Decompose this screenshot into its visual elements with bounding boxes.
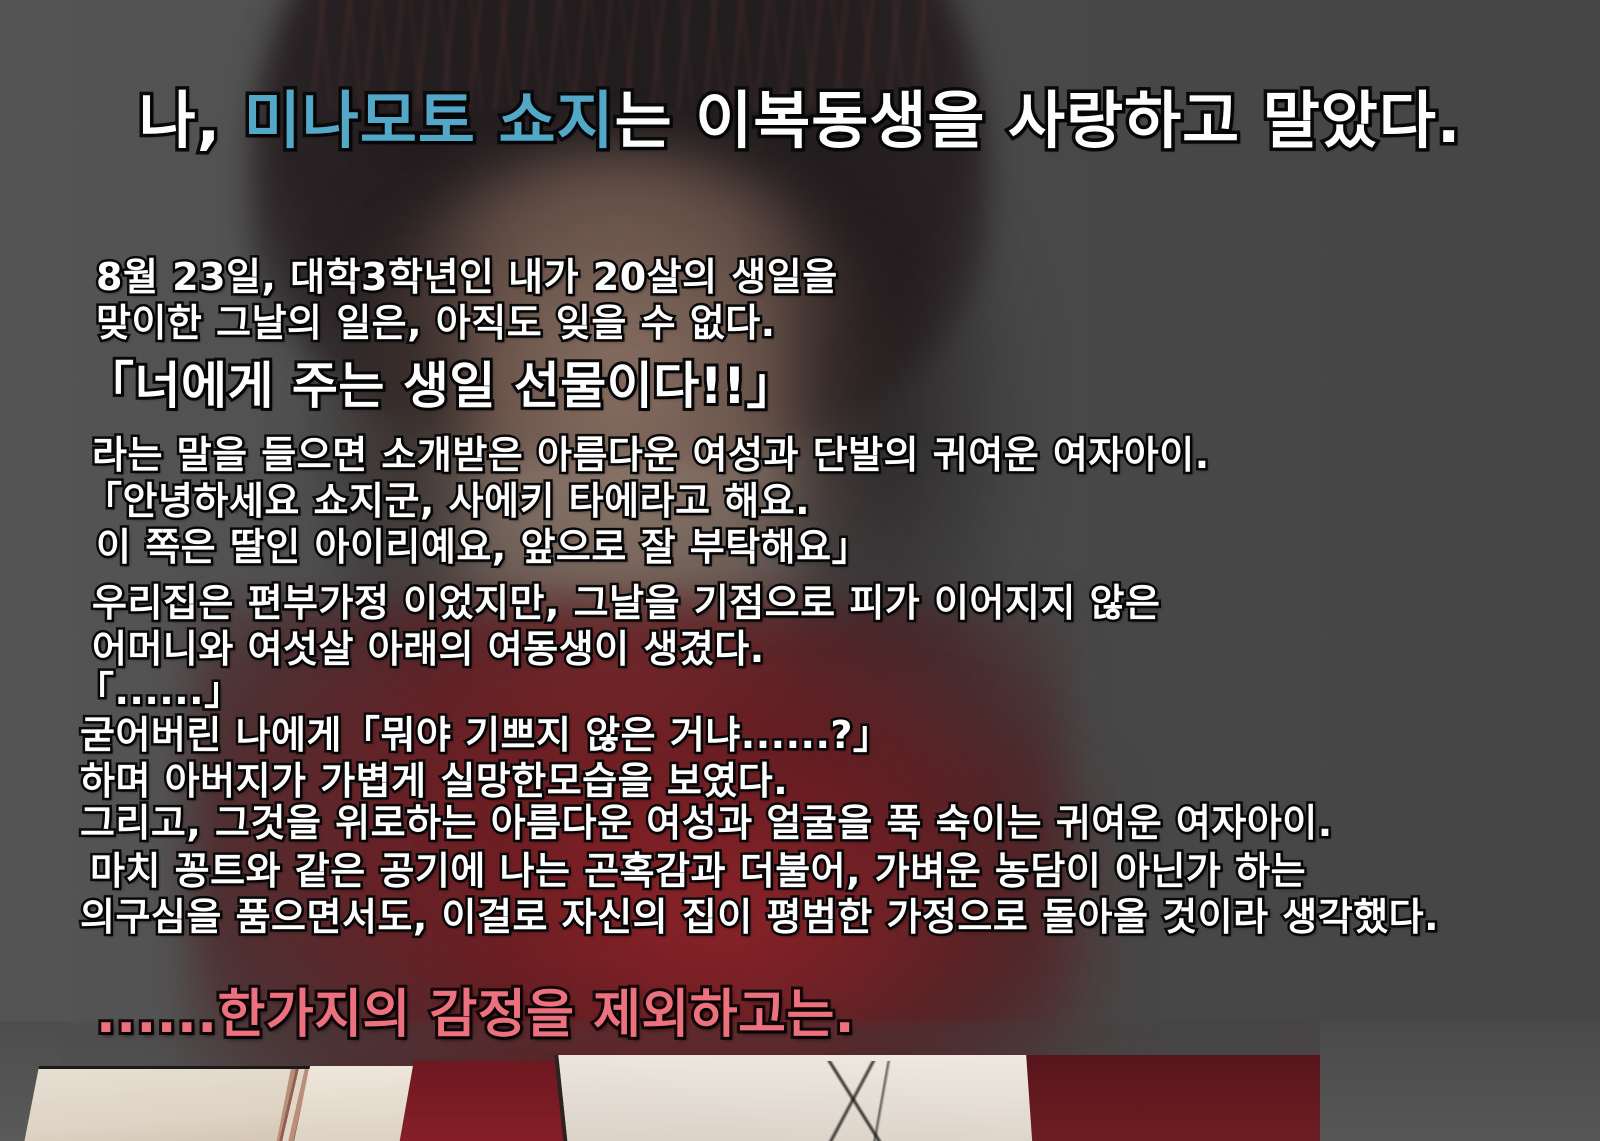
text-overlay: 나, 미나모토 쇼지는 이복동생을 사랑하고 말았다. 8월 23일, 대학3학… (0, 0, 1600, 1141)
narration-line-12: 그리고, 그것을 위로하는 아름다운 여성과 얼굴을 푹 숙이는 귀여운 여자아… (80, 792, 1333, 847)
title-character-name: 미나모토 쇼지 (244, 84, 615, 157)
narration-line-14: 의구심을 품으면서도, 이걸로 자신의 집이 평범한 가정으로 돌아올 것이라 … (80, 886, 1439, 941)
narration-line-3-emphasis: 「너에게 주는 생일 선물이다!!」 (84, 346, 797, 418)
page-title: 나, 미나모토 쇼지는 이복동생을 사랑하고 말았다. (0, 88, 1600, 153)
title-prefix: 나, (139, 84, 244, 157)
title-suffix: 는 이복동생을 사랑하고 말았다. (615, 84, 1462, 157)
narration-line-15-closing: ......한가지의 감정을 제외하고는. (96, 972, 855, 1047)
title-card-scene: 나, 미나모토 쇼지는 이복동생을 사랑하고 말았다. 8월 23일, 대학3학… (0, 0, 1600, 1141)
narration-line-6: 이 쪽은 딸인 아이리예요, 앞으로 잘 부탁해요」 (96, 516, 870, 571)
narration-line-2: 맞이한 그날의 일은, 아직도 잊을 수 없다. (96, 292, 776, 347)
